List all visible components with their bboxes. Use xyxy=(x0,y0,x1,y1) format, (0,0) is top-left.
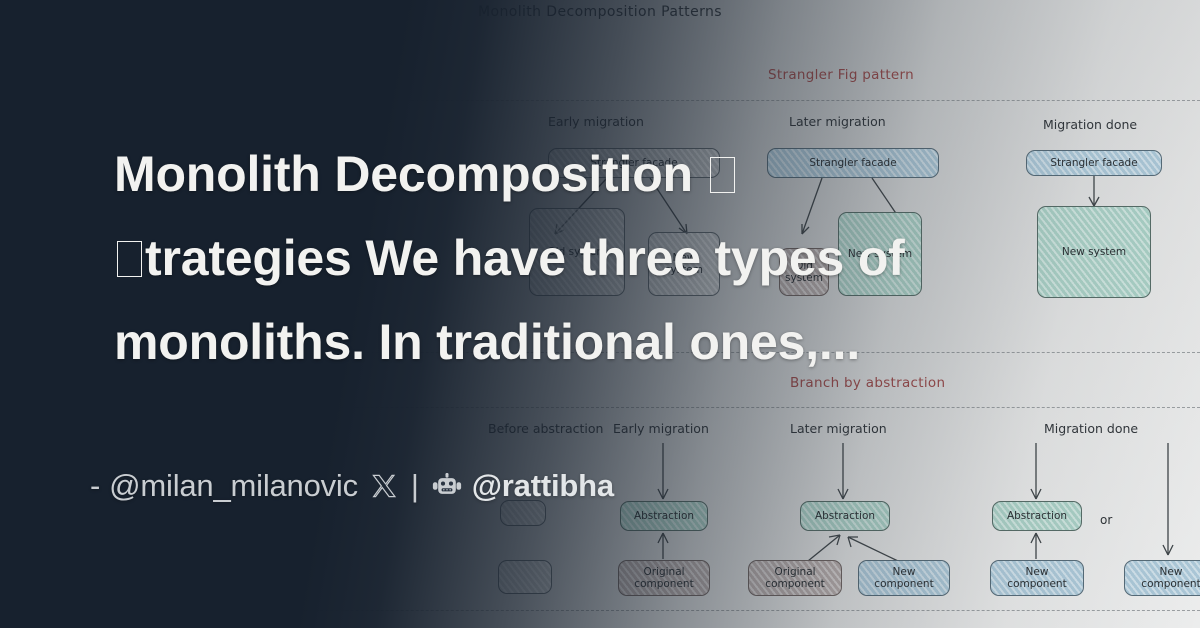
missing-glyph-box xyxy=(710,157,735,193)
robot-icon xyxy=(432,473,462,499)
social-share-card: Monolith Decomposition Patterns Strangle… xyxy=(0,0,1200,628)
attribution-separator: | xyxy=(411,468,419,504)
headline-text: Monolith Decomposition trategies We have… xyxy=(114,132,1104,384)
missing-glyph-box xyxy=(117,241,142,277)
attribution-dash: - xyxy=(90,468,100,504)
attribution-line: - @milan_milanovic | @rattibha xyxy=(90,468,614,504)
source-handle[interactable]: @rattibha xyxy=(472,468,614,504)
x-logo-icon[interactable] xyxy=(371,473,397,499)
card-foreground: Monolith Decomposition trategies We have… xyxy=(0,0,1200,628)
author-handle[interactable]: @milan_milanovic xyxy=(109,468,358,504)
